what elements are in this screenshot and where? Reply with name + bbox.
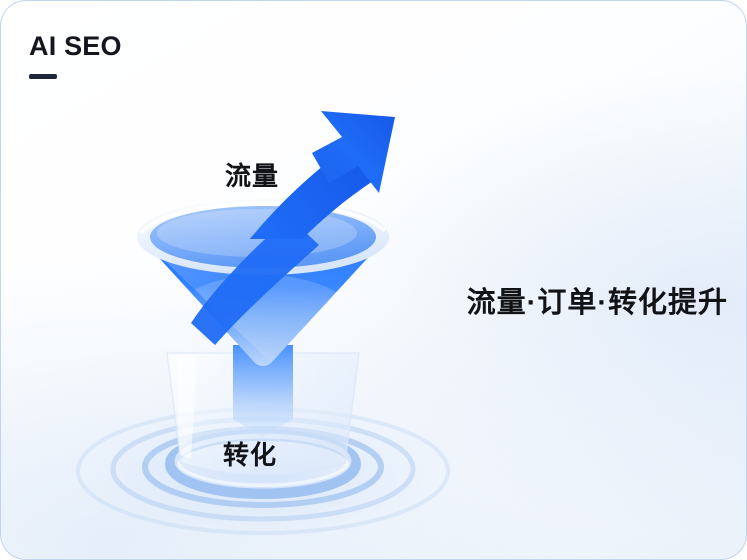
label-traffic: 流量 [225, 156, 279, 193]
tagline-text: 流量·订单·转化提升 [467, 279, 728, 321]
label-conversion: 转化 [223, 435, 277, 472]
brand-block: AI SEO [29, 33, 122, 79]
page-title: AI SEO [29, 33, 122, 60]
title-underline-rule [29, 74, 57, 79]
seo-promo-card: AI SEO 流量·订单·转化提升 [0, 0, 747, 560]
